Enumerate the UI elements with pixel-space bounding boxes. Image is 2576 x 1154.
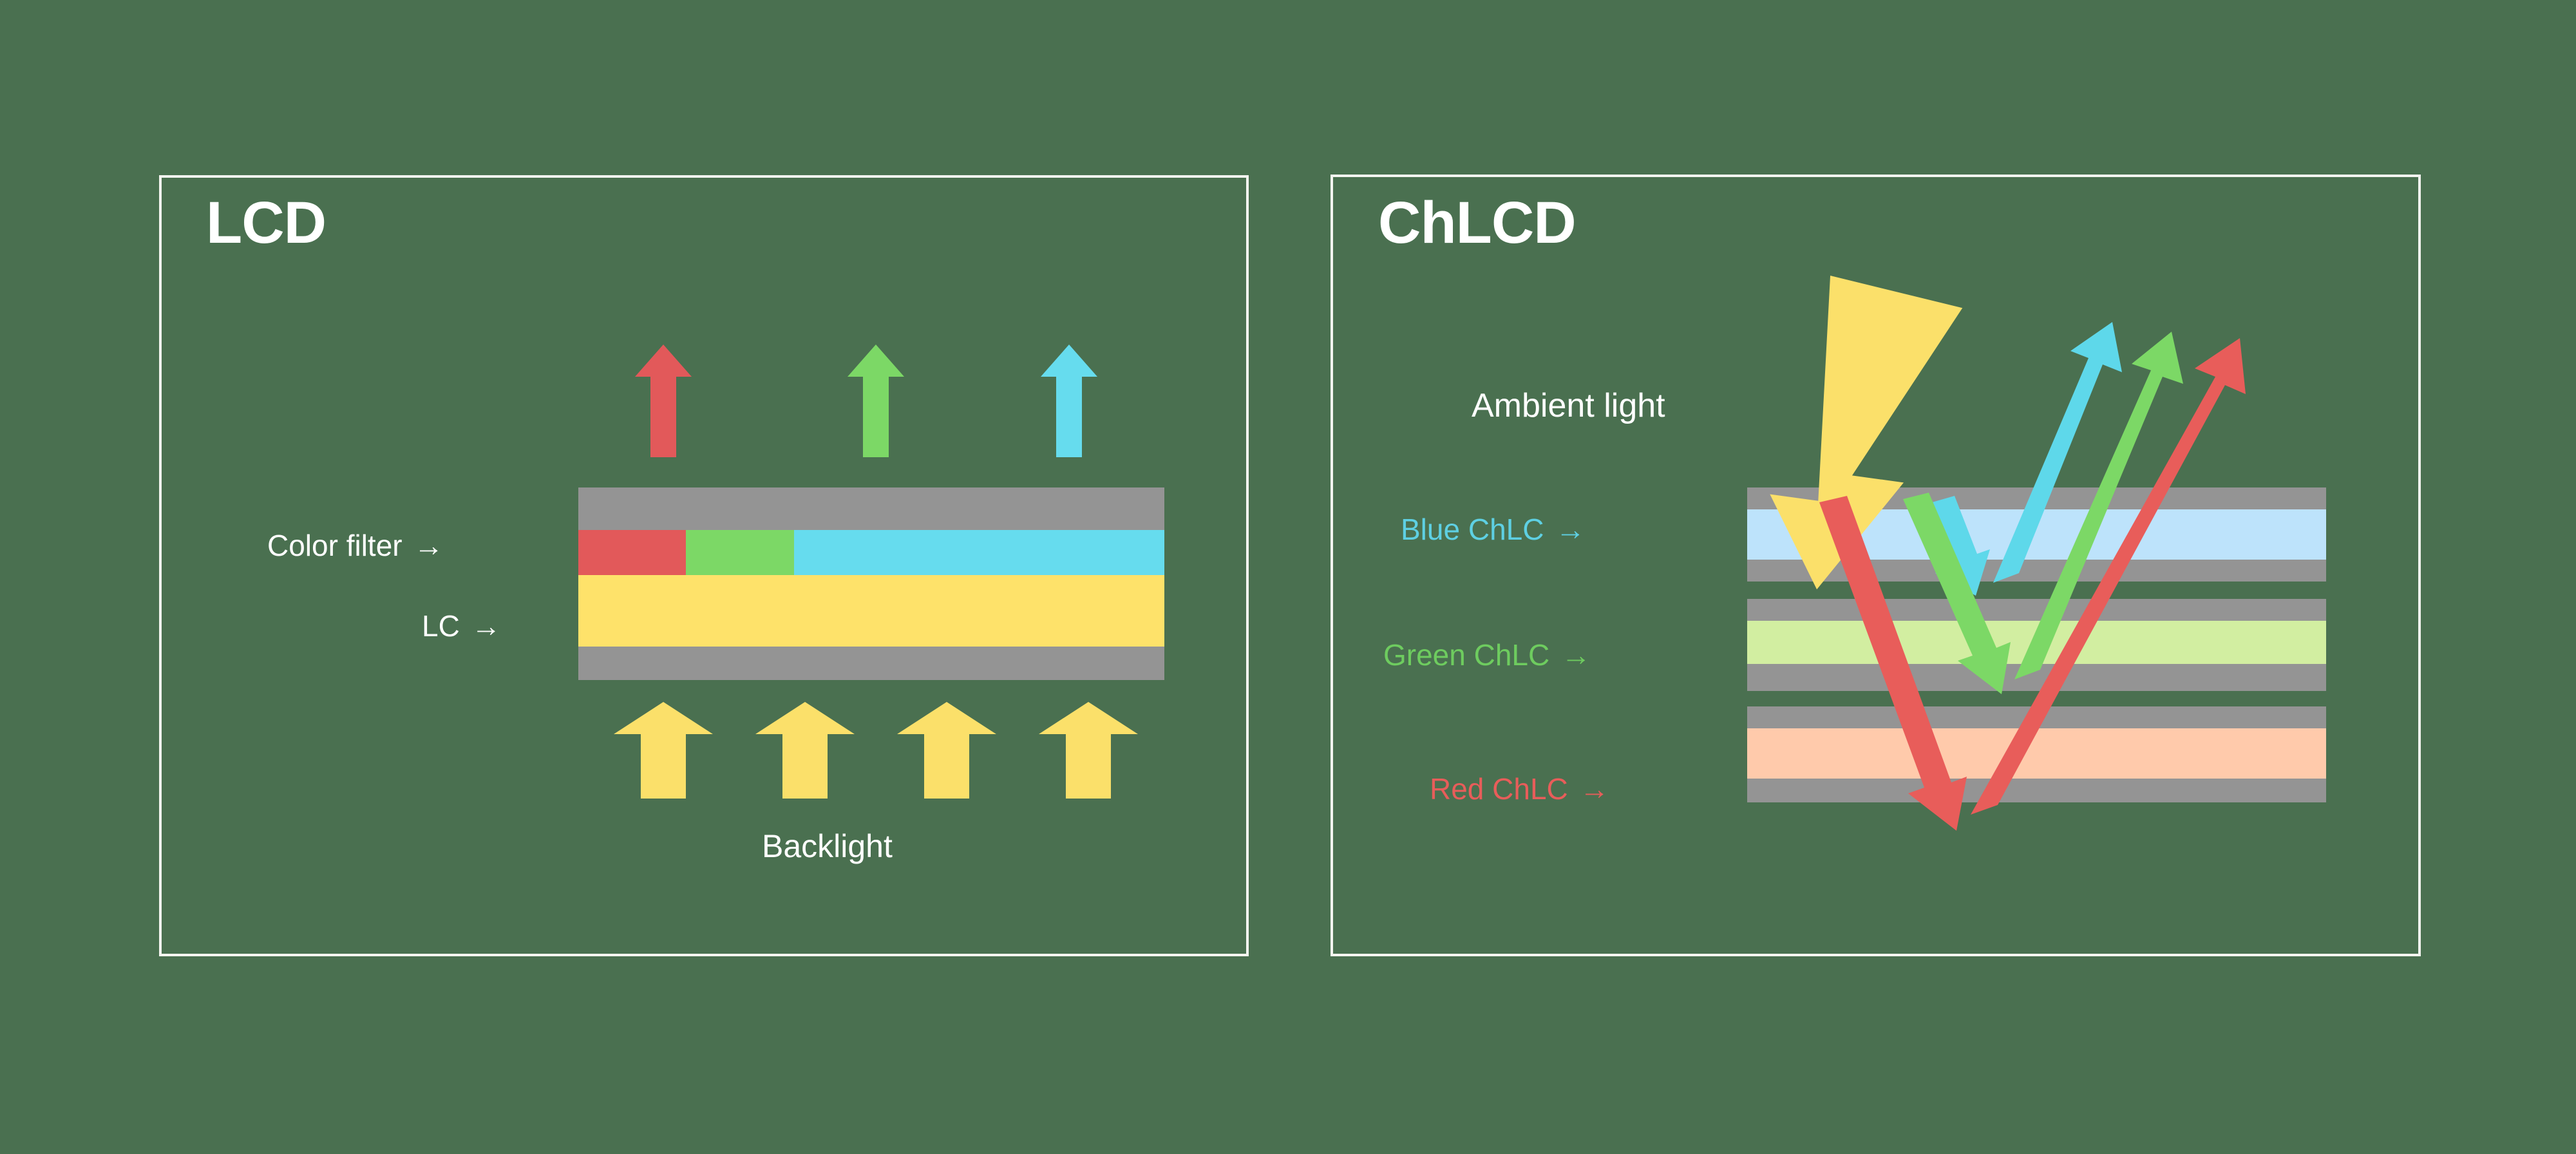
lcd-layer-color-filter [578, 530, 1164, 575]
label-blue-chlc-text: Blue ChLC [1401, 512, 1544, 547]
label-lc-text: LC [422, 609, 460, 643]
label-red-chlc: Red ChLC → [1430, 771, 1609, 806]
label-green-chlc: Green ChLC → [1383, 638, 1591, 672]
color-filter-blue-segment [794, 530, 1164, 575]
color-filter-green-segment [686, 530, 794, 575]
right-arrow-icon: → [414, 528, 444, 563]
right-arrow-icon: → [1555, 512, 1585, 547]
chlcd-electrode-2 [1747, 560, 2326, 582]
panel-title-lcd: LCD [206, 193, 326, 252]
chlcd-electrode-4 [1747, 664, 2326, 691]
chlcd-electrode-3 [1747, 599, 2326, 621]
chlcd-blue-layer [1747, 509, 2326, 560]
chlcd-electrode-1 [1747, 487, 2326, 509]
right-arrow-icon: → [471, 609, 501, 643]
chlcd-red-layer [1747, 728, 2326, 779]
chlcd-green-layer [1747, 621, 2326, 664]
label-color-filter: Color filter → [267, 528, 444, 563]
label-ambient-light: Ambient light [1472, 386, 1665, 425]
right-arrow-icon: → [1561, 638, 1591, 672]
label-color-filter-text: Color filter [267, 528, 402, 563]
label-blue-chlc: Blue ChLC → [1401, 512, 1585, 547]
lcd-layer-liquid-crystal [578, 575, 1164, 647]
chlcd-electrode-5 [1747, 706, 2326, 728]
chlcd-layer-stack [1747, 487, 2326, 802]
color-filter-red-segment [578, 530, 686, 575]
chlcd-electrode-6 [1747, 779, 2326, 802]
lcd-layer-stack [578, 487, 1164, 680]
label-red-chlc-text: Red ChLC [1430, 771, 1568, 806]
label-green-chlc-text: Green ChLC [1383, 638, 1549, 672]
label-backlight: Backlight [762, 828, 893, 865]
lcd-layer-glass-bottom [578, 647, 1164, 680]
right-arrow-icon: → [1580, 771, 1609, 806]
panel-title-chlcd: ChLCD [1378, 193, 1576, 252]
label-lc: LC → [422, 609, 501, 643]
lcd-layer-glass-top [578, 487, 1164, 530]
